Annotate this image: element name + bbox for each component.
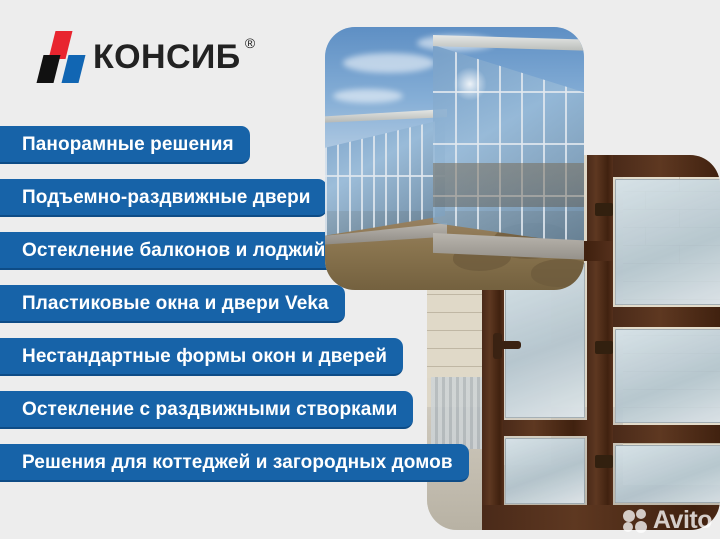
door-hinge-bottom xyxy=(595,455,613,468)
registered-trademark-icon: ® xyxy=(245,36,256,50)
window-glass-upper xyxy=(615,179,720,305)
window-glass-mid xyxy=(615,329,720,423)
advertisement-canvas: КОНСИБ® Панорамные решения Подъемно-разд… xyxy=(0,0,720,539)
cloud-icon xyxy=(333,89,403,103)
door-hinge-mid xyxy=(595,341,613,354)
feature-bar: Решения для коттеджей и загородных домов xyxy=(0,444,469,482)
sun-glint xyxy=(453,67,487,101)
feature-bar: Остекление с раздвижными створками xyxy=(0,391,413,429)
feature-label: Подъемно-раздвижные двери xyxy=(22,188,311,207)
feature-label: Пластиковые окна и двери Veka xyxy=(22,294,329,313)
feature-bar: Пластиковые окна и двери Veka xyxy=(0,285,345,323)
glass-reflection xyxy=(433,163,584,207)
door-handle-base xyxy=(493,333,502,359)
brand-name: КОНСИБ® xyxy=(93,40,241,74)
feature-label: Нестандартные формы окон и дверей xyxy=(22,347,387,366)
window-frame-top xyxy=(613,155,720,177)
cloud-icon xyxy=(343,53,435,73)
feature-bar: Подъемно-раздвижные двери xyxy=(0,179,327,217)
brand-logo: КОНСИБ® xyxy=(38,26,288,88)
feature-label: Панорамные решения xyxy=(22,135,234,154)
window-frame-lower xyxy=(613,425,720,443)
feature-bar: Остекление балконов и лоджий xyxy=(0,232,341,270)
konsib-parallelogram-logo-icon xyxy=(38,31,84,83)
feature-bar: Нестандартные формы окон и дверей xyxy=(0,338,403,376)
door-rail-mid xyxy=(503,420,591,436)
feature-label: Решения для коттеджей и загородных домов xyxy=(22,453,453,472)
ground-rubble xyxy=(531,259,584,287)
panoramic-glazed-facade-photo xyxy=(325,27,584,290)
feature-label: Остекление балконов и лоджий xyxy=(22,241,325,260)
door-hinge-top xyxy=(595,203,613,216)
window-glass-lower xyxy=(615,445,720,503)
feature-bar: Панорамные решения xyxy=(0,126,250,164)
logo-shape-blue xyxy=(62,55,86,83)
logo-shape-black xyxy=(37,55,61,83)
window-frame-mid xyxy=(613,307,720,327)
door-glass-lower xyxy=(505,438,585,504)
door-frame-bottom xyxy=(482,505,720,530)
feature-label: Остекление с раздвижными створками xyxy=(22,400,397,419)
photo-radiator xyxy=(431,377,487,449)
